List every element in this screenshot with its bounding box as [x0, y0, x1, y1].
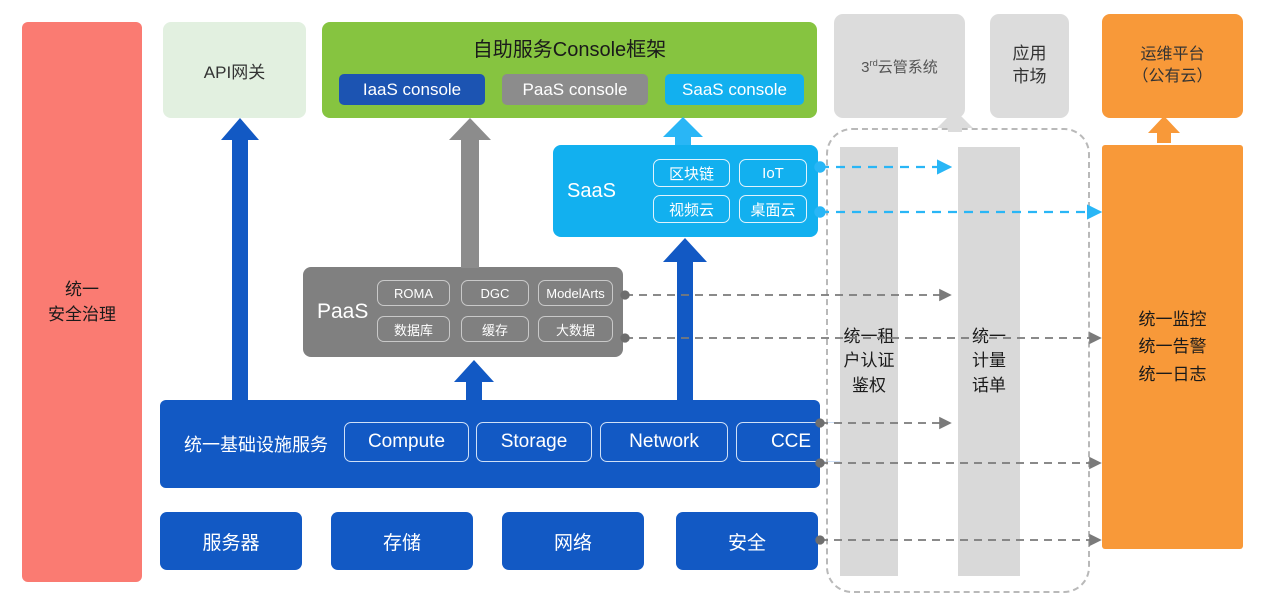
arrow-paas-to-console	[449, 118, 491, 268]
unified-security-governance-panel: 统一 安全治理	[22, 22, 142, 582]
unified-metering-billing-column: 统一 计量 话单	[958, 147, 1020, 576]
arrow-saas-to-console	[663, 117, 703, 145]
infra-chip-cce-label: CCE	[771, 431, 811, 453]
unified-infrastructure-service-bar: 统一基础设施服务 Compute Storage Network CCE	[160, 400, 820, 488]
metering-line-2: 计量	[972, 349, 1006, 374]
infra-chip-network[interactable]: Network	[600, 422, 728, 462]
resource-box-server[interactable]: 服务器	[160, 512, 302, 570]
iaas-console-label: IaaS console	[363, 80, 461, 100]
api-gateway-label: API网关	[204, 58, 265, 83]
auth-line-2: 户认证	[844, 349, 895, 374]
paas-chip-roma-label: ROMA	[394, 286, 433, 301]
app-market-line-1: 应用	[1013, 43, 1047, 66]
paas-chip-database-label: 数据库	[394, 320, 433, 339]
saas-chip-video-cloud[interactable]: 视频云	[653, 195, 730, 223]
resource-box-storage[interactable]: 存储	[331, 512, 473, 570]
paas-chip-dgc-label: DGC	[481, 286, 510, 301]
infra-chip-compute[interactable]: Compute	[344, 422, 469, 462]
paas-chip-cache[interactable]: 缓存	[461, 316, 529, 342]
paas-console-label: PaaS console	[523, 80, 628, 100]
arrow-infra-to-saas	[663, 238, 707, 400]
paas-chip-cache-label: 缓存	[482, 320, 508, 339]
paas-layer-box: PaaS ROMA DGC ModelArts 数据库 缓存 大数据	[303, 267, 623, 357]
saas-console-label: SaaS console	[682, 80, 787, 100]
saas-chip-iot[interactable]: IoT	[739, 159, 807, 187]
arrow-shared-to-ops-platform	[1148, 116, 1180, 143]
saas-chip-video-cloud-label: 视频云	[669, 199, 714, 220]
architecture-diagram: 统一 安全治理 API网关 自助服务Console框架 IaaS console…	[0, 0, 1265, 605]
saas-chip-iot-label: IoT	[762, 165, 784, 182]
saas-chip-blockchain[interactable]: 区块链	[653, 159, 730, 187]
paas-chip-bigdata-label: 大数据	[556, 320, 595, 339]
paas-chip-modelarts[interactable]: ModelArts	[538, 280, 613, 306]
metering-line-3: 话单	[972, 374, 1006, 399]
unified-tenant-auth-column: 统一租 户认证 鉴权	[840, 147, 898, 576]
resource-box-security[interactable]: 安全	[676, 512, 818, 570]
arrow-infra-to-paas	[454, 360, 494, 400]
saas-chip-blockchain-label: 区块链	[669, 163, 714, 184]
saas-layer-box: SaaS 区块链 IoT 视频云 桌面云	[553, 145, 818, 237]
saas-chip-desktop-cloud-label: 桌面云	[750, 199, 795, 220]
auth-line-1: 统一租	[844, 325, 895, 350]
resource-server-label: 服务器	[202, 528, 259, 555]
app-market-line-2: 市场	[1013, 66, 1047, 89]
infra-chip-network-label: Network	[629, 431, 699, 453]
console-frame-title: 自助服务Console框架	[322, 33, 817, 62]
ops-log-label: 统一日志	[1139, 361, 1207, 388]
infra-chip-storage[interactable]: Storage	[476, 422, 592, 462]
third-party-prefix: 3	[861, 59, 869, 76]
paas-layer-label: PaaS	[317, 267, 368, 357]
app-market-box: 应用 市场	[990, 14, 1069, 118]
ops-platform-body-panel: 统一监控 统一告警 统一日志	[1102, 145, 1243, 549]
security-line-2: 安全治理	[48, 302, 116, 328]
metering-line-1: 统一	[972, 325, 1006, 350]
infra-chip-compute-label: Compute	[368, 431, 445, 453]
ops-platform-header-box: 运维平台 （公有云）	[1102, 14, 1243, 118]
ops-monitor-label: 统一监控	[1139, 306, 1207, 333]
paas-chip-database[interactable]: 数据库	[377, 316, 450, 342]
saas-layer-label: SaaS	[567, 145, 616, 237]
ops-platform-line-2: （公有云）	[1132, 66, 1212, 88]
paas-chip-bigdata[interactable]: 大数据	[538, 316, 613, 342]
security-line-1: 统一	[48, 277, 116, 303]
third-party-superscript: rd	[870, 58, 878, 68]
saas-console-chip[interactable]: SaaS console	[665, 74, 804, 105]
third-party-rest: 云管系统	[878, 59, 938, 76]
arrow-infra-to-api-gateway	[221, 118, 259, 400]
unified-infrastructure-label: 统一基础设施服务	[184, 400, 328, 488]
self-service-console-frame: 自助服务Console框架 IaaS console PaaS console …	[322, 22, 817, 118]
resource-box-network[interactable]: 网络	[502, 512, 644, 570]
auth-line-3: 鉴权	[844, 374, 895, 399]
third-party-cloud-management-box: 3rd云管系统	[834, 14, 965, 118]
paas-console-chip[interactable]: PaaS console	[502, 74, 648, 105]
ops-alarm-label: 统一告警	[1139, 333, 1207, 360]
third-party-cloud-label: 3rd云管系统	[861, 56, 938, 77]
ops-platform-line-1: 运维平台	[1132, 44, 1212, 66]
resource-security-label: 安全	[728, 528, 766, 555]
saas-chip-desktop-cloud[interactable]: 桌面云	[739, 195, 807, 223]
resource-network-label: 网络	[554, 528, 592, 555]
paas-chip-dgc[interactable]: DGC	[461, 280, 529, 306]
infra-chip-storage-label: Storage	[501, 431, 568, 453]
paas-chip-modelarts-label: ModelArts	[546, 286, 605, 301]
paas-chip-roma[interactable]: ROMA	[377, 280, 450, 306]
iaas-console-chip[interactable]: IaaS console	[339, 74, 485, 105]
resource-storage-label: 存储	[383, 528, 421, 555]
api-gateway-box: API网关	[163, 22, 306, 118]
